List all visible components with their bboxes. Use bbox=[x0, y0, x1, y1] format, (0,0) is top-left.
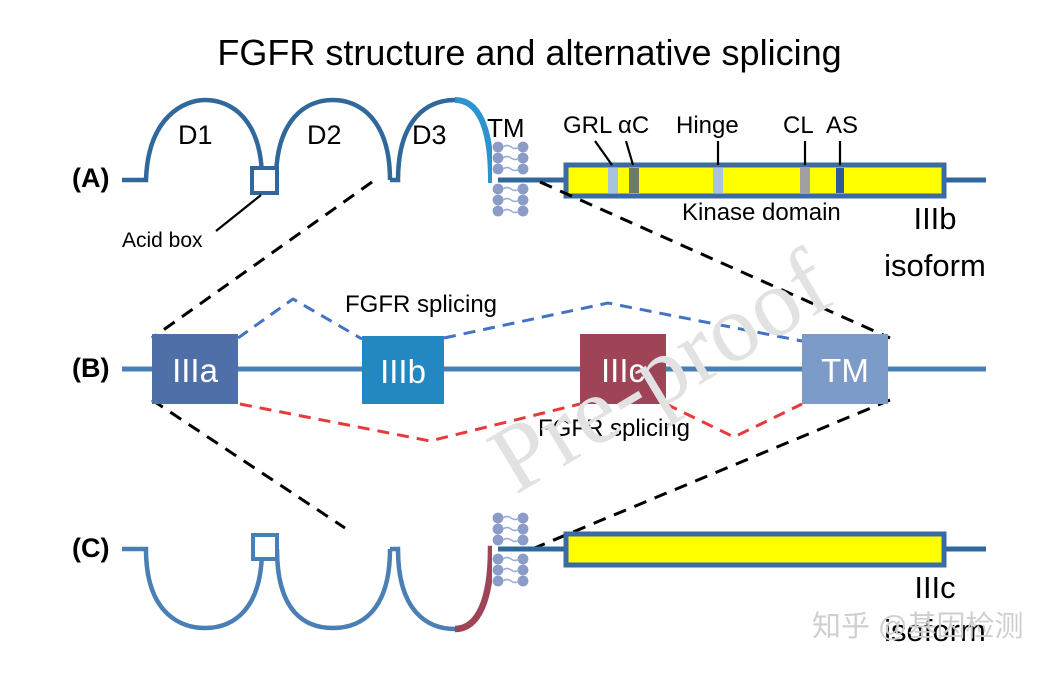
panel-c-graphics bbox=[122, 512, 986, 629]
splice-label-bottom: FGFR splicing bbox=[538, 417, 690, 441]
exon-label-iiia: IIIa bbox=[172, 352, 219, 389]
domain-d3-loop-left-c bbox=[390, 549, 455, 629]
kinase-domain-label: Kinase domain bbox=[682, 201, 841, 225]
kinase-marker-label-grl: GRL bbox=[563, 114, 612, 138]
domain-label-d2: D2 bbox=[307, 122, 342, 149]
exon-label-iiib: IIIb bbox=[380, 353, 426, 390]
exon-label-iiic: IIIc bbox=[601, 352, 645, 389]
splice-path-blue-left bbox=[238, 299, 362, 339]
panel-letter-c: (C) bbox=[72, 535, 109, 562]
acid-box-square bbox=[252, 168, 277, 193]
kinase-marker-cl bbox=[800, 168, 810, 193]
panel-letter-a: (A) bbox=[72, 165, 109, 192]
fgfr-splicing-figure: FGFR structure and alternative splicing bbox=[0, 0, 1059, 682]
connector-a-left bbox=[152, 182, 372, 338]
leader-line-ac bbox=[626, 141, 633, 165]
isoform-label-iiic-line1: IIIc bbox=[860, 572, 1010, 603]
exon-label-tm: TM bbox=[821, 352, 869, 389]
leader-line-grl bbox=[595, 141, 612, 165]
isoform-label-iiib-line1: IIIb bbox=[860, 203, 1010, 234]
kinase-domain-bar-a bbox=[566, 165, 944, 196]
kinase-marker-grl bbox=[608, 168, 618, 193]
acid-box-square-c bbox=[253, 535, 277, 559]
domain-label-d1: D1 bbox=[178, 122, 213, 149]
kinase-marker-label-as: AS bbox=[826, 114, 858, 138]
isoform-label-iiib-line2: isoform bbox=[860, 250, 1010, 281]
acid-box-label: Acid box bbox=[122, 230, 203, 251]
kinase-marker-as bbox=[836, 168, 844, 193]
kinase-marker-label-cl: CL bbox=[783, 114, 814, 138]
kinase-marker-hinge bbox=[713, 168, 723, 193]
acid-box-leader-line bbox=[216, 195, 261, 231]
kinase-marker-label-hinge: Hinge bbox=[676, 114, 739, 138]
domain-d2-loop-c bbox=[277, 549, 390, 628]
splice-label-top: FGFR splicing bbox=[345, 293, 497, 317]
kinase-domain-bar-c bbox=[566, 534, 944, 565]
domain-d1-loop-c bbox=[122, 549, 262, 628]
tm-label-a: TM bbox=[487, 115, 525, 141]
panel-letter-b: (B) bbox=[72, 355, 109, 382]
kinase-marker-ac bbox=[629, 168, 639, 193]
connector-c-left bbox=[152, 400, 345, 528]
splice-path-red-left bbox=[240, 404, 580, 441]
domain-label-d3: D3 bbox=[412, 122, 447, 149]
isoform-label-iiic-line2: isoform bbox=[860, 615, 1010, 646]
kinase-marker-label-ac: αC bbox=[618, 114, 649, 138]
